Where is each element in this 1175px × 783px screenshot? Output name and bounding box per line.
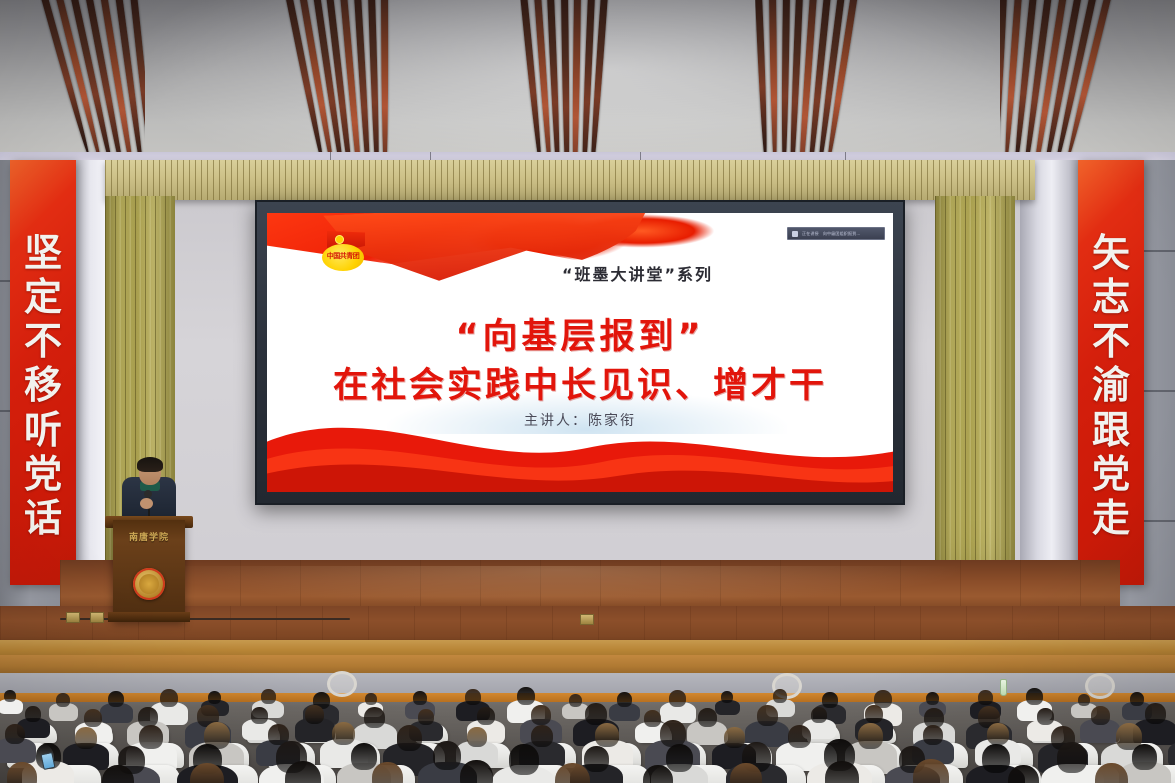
audience-member-head <box>365 693 377 705</box>
audience-member-head <box>364 707 385 728</box>
audience-member-head <box>987 723 1009 745</box>
audience-member-head <box>7 762 37 783</box>
microphone-icon <box>144 490 152 498</box>
audience-member-head <box>1037 708 1054 725</box>
audience-member-head <box>978 690 993 705</box>
audience-member-head <box>397 725 422 751</box>
emblem-star-icon <box>335 235 344 244</box>
ceiling-slat-bundle <box>520 0 615 175</box>
presenter-hand <box>140 498 153 509</box>
audience-member-head <box>1091 706 1110 725</box>
audience-member-head <box>811 707 827 723</box>
audience-member-head <box>139 725 163 749</box>
banner-char: 移 <box>24 365 62 405</box>
emblem-disc-text: 中国共青团 <box>322 251 364 261</box>
audience-member-head <box>4 690 16 702</box>
toolbar-label-1: 正在讲授 <box>802 231 819 237</box>
slide-app-toolbar[interactable]: 正在讲授 向中级团组织报到… <box>787 227 885 240</box>
audience-member-head <box>433 741 461 770</box>
audience-member-head <box>666 744 693 772</box>
audience-member-head <box>467 727 487 747</box>
audience-member-head <box>138 707 158 727</box>
audience-member-head <box>1145 703 1166 724</box>
banner-char: 跟 <box>1092 410 1130 450</box>
banner-char: 矢 <box>1092 233 1130 273</box>
audience-member-head <box>822 692 838 708</box>
audience-member-head <box>1130 692 1144 706</box>
toolbar-label-2: 向中级团组织报到… <box>823 231 861 237</box>
audience-member-head <box>305 705 324 724</box>
audience-member-head <box>251 707 268 724</box>
audience-member-head <box>351 743 377 770</box>
banner-char: 话 <box>24 498 62 538</box>
audience-member-head <box>75 727 97 749</box>
audience-member-head <box>531 705 551 725</box>
audience-member-head <box>1132 744 1157 770</box>
audience-member-head <box>724 727 745 748</box>
audience-member-head <box>660 720 686 747</box>
ceiling-slat <box>769 0 778 172</box>
audience-member-head <box>865 705 883 723</box>
audience-member-head <box>517 687 535 705</box>
audience-member-head <box>261 689 276 704</box>
audience-member-head <box>858 723 883 749</box>
auditorium-photo: 坚 定 不 移 听 党 话 矢 志 不 渝 跟 党 走 <box>0 0 1175 783</box>
banner-char: 志 <box>1092 277 1130 317</box>
audience-member-head <box>84 709 102 727</box>
ceiling-slat-bundle <box>285 0 395 175</box>
wall-ring-decor-3 <box>1085 673 1115 699</box>
floor-monitor-box-2 <box>90 612 104 623</box>
audience-member-head <box>773 689 787 703</box>
audience-member-head <box>669 690 686 707</box>
audience-member-head <box>721 691 733 703</box>
audience-member-head <box>584 746 609 772</box>
banner-char: 党 <box>24 454 62 494</box>
lectern-base <box>108 612 190 622</box>
university-crest-icon <box>133 568 165 600</box>
slide-headline-2: 在社会实践中长见识、增才干 <box>267 357 893 408</box>
audience-member-head <box>923 725 943 745</box>
banner-char: 党 <box>1092 454 1130 494</box>
audience-member-head <box>108 691 124 707</box>
right-red-vertical-banner: 矢 志 不 渝 跟 党 走 <box>1078 160 1144 585</box>
audience-member-head <box>698 708 717 727</box>
ceiling-slat <box>381 0 389 175</box>
ceiling <box>0 0 1175 175</box>
lectern-plaque-text: 南唐学院 <box>113 530 185 543</box>
wooden-lectern: 南唐学院 <box>113 520 185 620</box>
banner-char: 听 <box>24 410 62 450</box>
audience-member-head <box>509 744 539 775</box>
audience-member-head <box>25 706 41 722</box>
audience-member-head <box>569 694 582 707</box>
presentation-slide: 中国共青团 正在讲授 向中级团组织报到… “班墨大讲堂”系列 “向基层报到” 在… <box>267 213 893 492</box>
stage-floor-reflection <box>150 566 970 606</box>
audience-member-head <box>595 723 619 747</box>
audience-member-head <box>332 722 355 745</box>
audience-member-head <box>617 692 632 707</box>
audience-member-head <box>982 744 1010 773</box>
stage-valance <box>105 160 1035 200</box>
auditorium-wood-wainscot <box>0 655 1175 675</box>
audience-member-head <box>585 703 607 725</box>
audience-member-head <box>465 689 481 705</box>
water-bottle <box>1000 679 1007 696</box>
slide-series-line: “班墨大讲堂”系列 <box>267 261 893 285</box>
ceiling-slat-bundle <box>40 0 145 175</box>
audience-member-head <box>788 725 811 748</box>
seated-audience: 15165 <box>0 655 1175 783</box>
banner-char: 不 <box>24 321 62 361</box>
save-icon[interactable] <box>792 231 798 237</box>
audience-member-head <box>460 760 493 783</box>
audience-member-head <box>208 691 221 704</box>
audience-member-head <box>413 691 427 705</box>
audience-member-head <box>1026 688 1043 705</box>
ceiling-slat-bundle <box>755 0 865 175</box>
audience-member-head <box>418 709 434 725</box>
ceiling-slat <box>755 0 769 163</box>
banner-char: 定 <box>24 277 62 317</box>
audience-member-head <box>926 692 939 705</box>
audience-member-head <box>1078 694 1090 706</box>
banner-char: 走 <box>1092 498 1130 538</box>
banner-char: 坚 <box>24 233 62 273</box>
audience-member-head <box>644 710 661 727</box>
audience-member-head <box>285 761 321 783</box>
ceiling-slat <box>561 0 571 175</box>
audience-member-head <box>56 693 70 707</box>
ceiling-slat-bundle <box>1000 0 1120 175</box>
audience-member-head <box>643 765 673 783</box>
audience-member-head <box>757 705 778 726</box>
presenter-hair <box>137 457 163 472</box>
audience-member-head <box>5 724 25 744</box>
ceiling-slat <box>368 0 381 175</box>
ceiling-slat <box>571 0 581 175</box>
banner-char: 渝 <box>1092 365 1130 405</box>
floor-monitor-box-1 <box>66 612 80 623</box>
banner-char: 不 <box>1092 321 1130 361</box>
slide-speaker-line: 主讲人：陈家衔 <box>267 410 893 430</box>
slide-headline-1: “向基层报到” <box>267 308 893 359</box>
audience-member-head <box>531 725 553 747</box>
ceiling-slat <box>780 0 790 175</box>
floor-monitor-box-3 <box>580 614 594 625</box>
audience-member-head <box>1057 742 1087 773</box>
wall-ring-decor-1 <box>327 671 357 697</box>
audience-member-head <box>160 689 178 707</box>
left-red-vertical-banner: 坚 定 不 移 听 党 话 <box>10 160 76 585</box>
led-screen-frame: 中国共青团 正在讲授 向中级团组织报到… “班墨大讲堂”系列 “向基层报到” 在… <box>255 200 905 505</box>
audience-member-head <box>477 707 495 725</box>
